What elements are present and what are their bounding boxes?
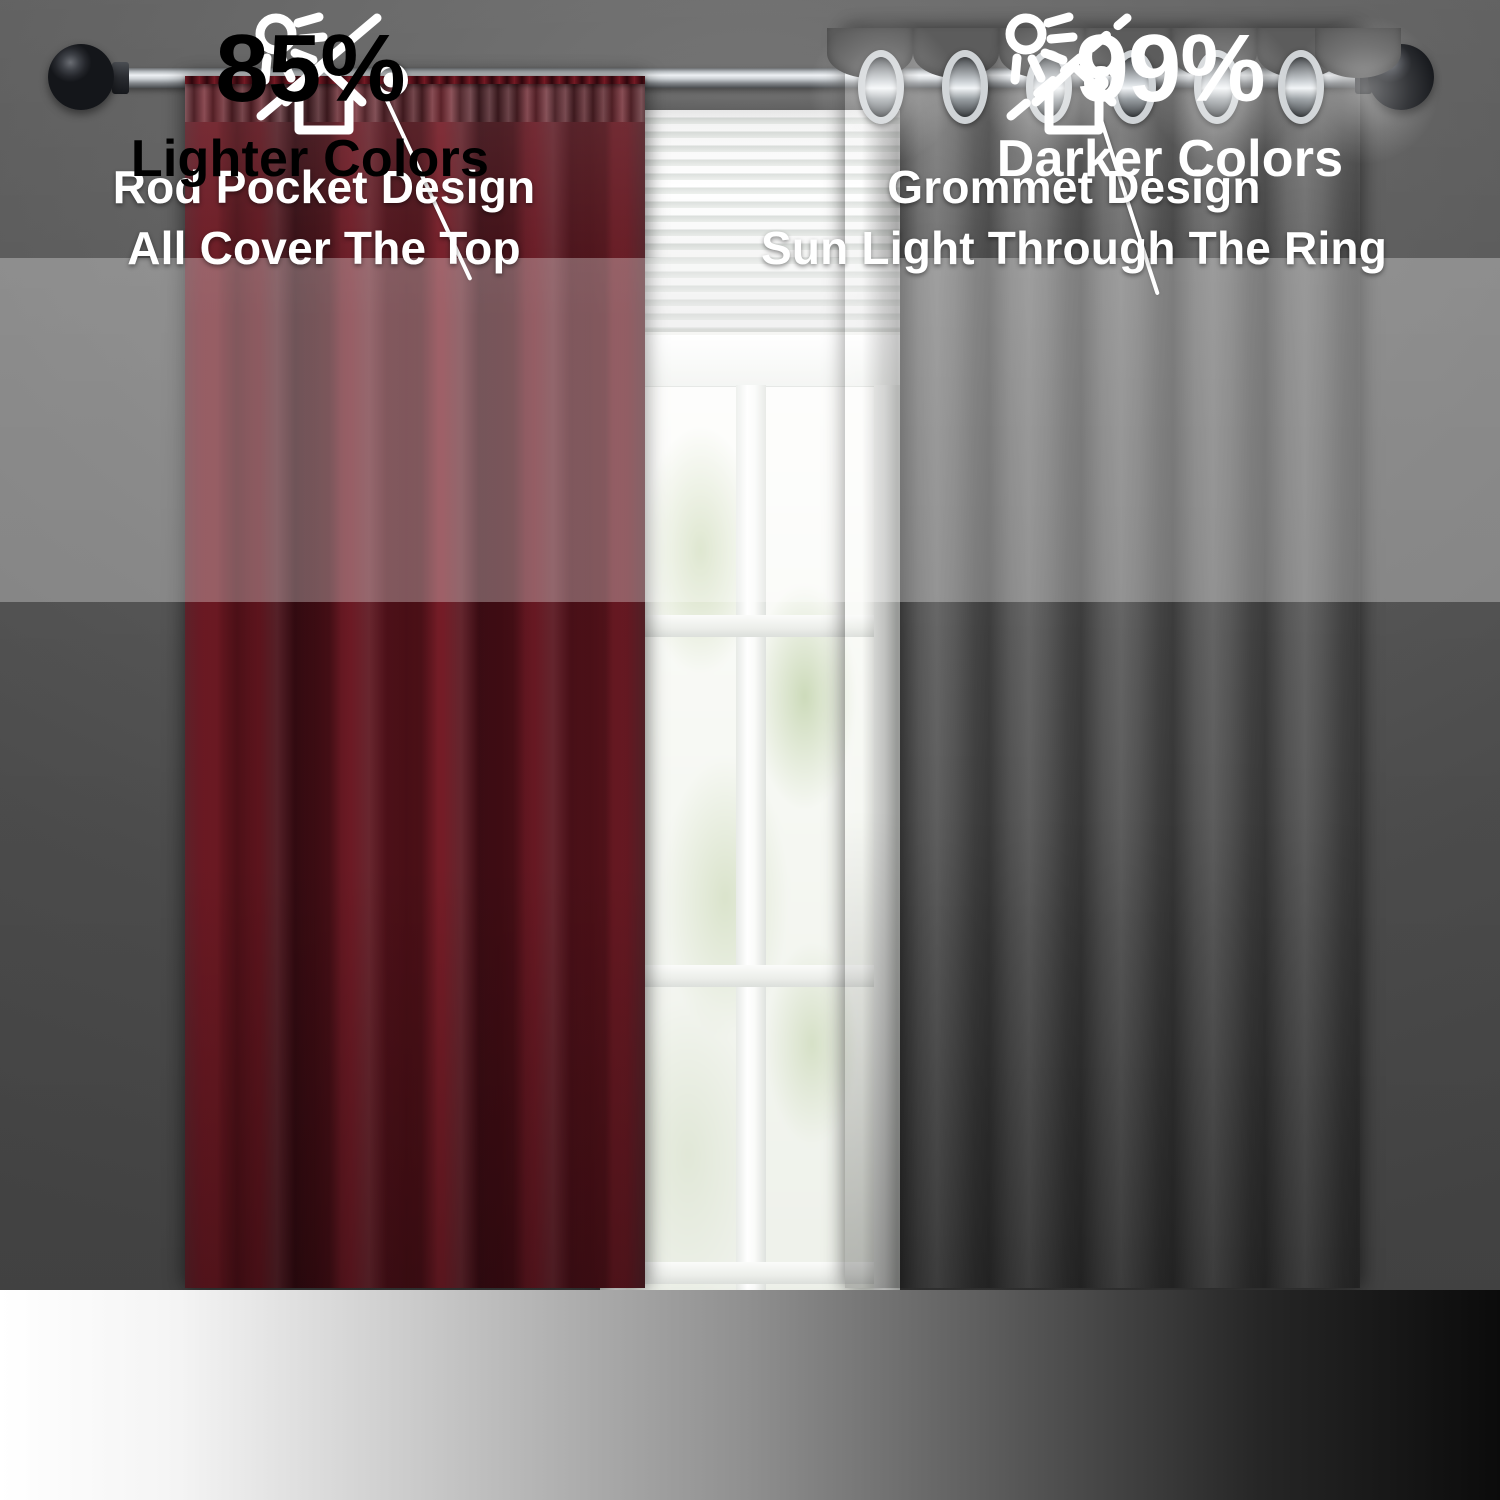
stat-darker-percent: 99% xyxy=(1075,21,1264,117)
blackout-stat-banner xyxy=(0,1290,1500,1500)
stat-lighter-percent: 85% xyxy=(215,21,404,117)
stat-lighter-label: Lighter Colors xyxy=(131,129,489,189)
feature-grommet-subline: Sun Light Through The Ring xyxy=(761,218,1387,279)
stat-darker-colors: 99% Darker Colors xyxy=(900,0,1440,210)
window-muntin-3 xyxy=(626,1262,874,1284)
stat-lighter-colors: 85% Lighter Colors xyxy=(60,0,560,210)
window-muntin-2 xyxy=(626,965,874,987)
stat-darker-label: Darker Colors xyxy=(997,129,1344,189)
feature-rod-pocket-subline: All Cover The Top xyxy=(113,218,536,279)
product-feature-image: Rod Pocket Design All Cover The Top xyxy=(0,0,1500,1500)
window-muntin-1 xyxy=(626,615,874,637)
